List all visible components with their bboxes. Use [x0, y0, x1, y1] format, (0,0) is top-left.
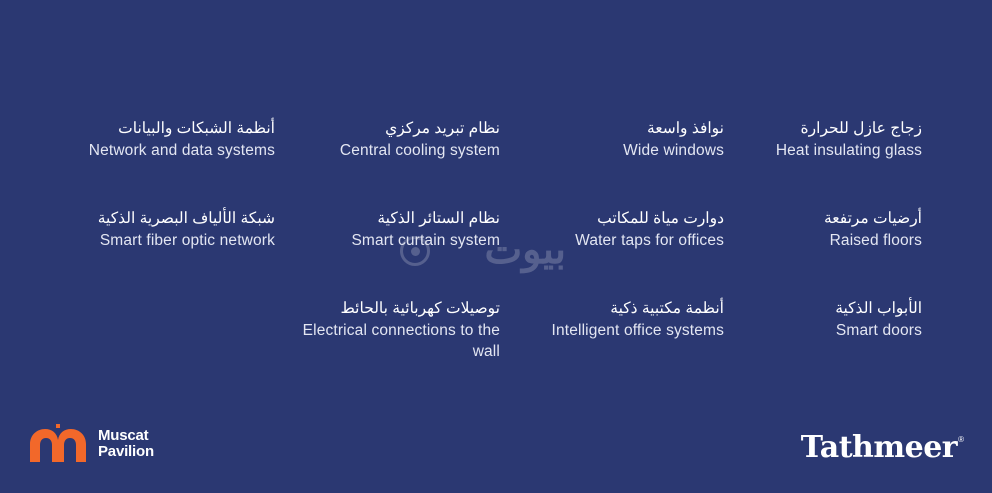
feature-label-en: Central cooling system: [275, 140, 500, 161]
feature-label-ar: أنظمة الشبكات والبيانات: [0, 118, 275, 139]
tathmeer-logo: Tathmeer ®: [801, 432, 964, 464]
muscat-wordmark-line2: Pavilion: [98, 444, 154, 460]
feature-item: دوارت مياة للمكاتب Water taps for office…: [500, 208, 724, 298]
tathmeer-wordmark: Tathmeer: [801, 432, 957, 464]
feature-label-en: Smart fiber optic network: [0, 230, 275, 251]
feature-label-ar: زجاج عازل للحرارة: [724, 118, 922, 139]
feature-label-ar: توصيلات كهربائية بالحائط: [275, 298, 500, 319]
feature-label-ar: نوافذ واسعة: [500, 118, 724, 139]
feature-label-en: Network and data systems: [0, 140, 275, 161]
muscat-wordmark-line1: Muscat: [98, 428, 154, 444]
feature-item: أنظمة مكتبية ذكية Intelligent office sys…: [500, 298, 724, 388]
feature-row: توصيلات كهربائية بالحائط Electrical conn…: [0, 298, 992, 388]
feature-label-ar: شبكة الألياف البصرية الذكية: [0, 208, 275, 229]
feature-label-ar: دوارت مياة للمكاتب: [500, 208, 724, 229]
feature-label-ar: أنظمة مكتبية ذكية: [500, 298, 724, 319]
feature-label-en: Wide windows: [500, 140, 724, 161]
feature-row: شبكة الألياف البصرية الذكية Smart fiber …: [0, 208, 992, 298]
feature-label-en: Heat insulating glass: [724, 140, 922, 161]
grid-gutter: [922, 208, 992, 298]
feature-label-ar: أرضيات مرتفعة: [724, 208, 922, 229]
grid-gutter: [922, 118, 992, 208]
feature-label-en: Intelligent office systems: [500, 320, 724, 341]
feature-item: نوافذ واسعة Wide windows: [500, 118, 724, 208]
feature-label-en: Water taps for offices: [500, 230, 724, 251]
muscat-pavilion-wordmark: Muscat Pavilion: [98, 428, 154, 460]
feature-label-ar: نظام الستائر الذكية: [275, 208, 500, 229]
feature-item: زجاج عازل للحرارة Heat insulating glass: [724, 118, 922, 208]
feature-item: توصيلات كهربائية بالحائط Electrical conn…: [275, 298, 500, 388]
feature-item: أرضيات مرتفعة Raised floors: [724, 208, 922, 298]
feature-label-en: Electrical connections to the wall: [275, 320, 500, 362]
feature-item: نظام الستائر الذكية Smart curtain system: [275, 208, 500, 298]
feature-label-ar: نظام تبريد مركزي: [275, 118, 500, 139]
feature-item: أنظمة الشبكات والبيانات Network and data…: [0, 118, 275, 208]
muscat-pavilion-arch-icon: [28, 424, 88, 464]
feature-item: الأبواب الذكية Smart doors: [724, 298, 922, 388]
muscat-pavilion-logo: Muscat Pavilion: [28, 424, 154, 464]
feature-row: أنظمة الشبكات والبيانات Network and data…: [0, 118, 992, 208]
feature-label-en: Raised floors: [724, 230, 922, 251]
feature-grid: أنظمة الشبكات والبيانات Network and data…: [0, 118, 992, 388]
feature-label-ar: الأبواب الذكية: [724, 298, 922, 319]
registered-trademark-icon: ®: [958, 435, 964, 445]
feature-item: شبكة الألياف البصرية الذكية Smart fiber …: [0, 208, 275, 298]
feature-label-en: Smart curtain system: [275, 230, 500, 251]
grid-gutter: [922, 298, 992, 388]
feature-label-en: Smart doors: [724, 320, 922, 341]
presentation-slide: بيوت أنظمة الشبكات والبيانات Network and…: [0, 0, 992, 493]
feature-item-empty: [0, 298, 275, 388]
feature-item: نظام تبريد مركزي Central cooling system: [275, 118, 500, 208]
